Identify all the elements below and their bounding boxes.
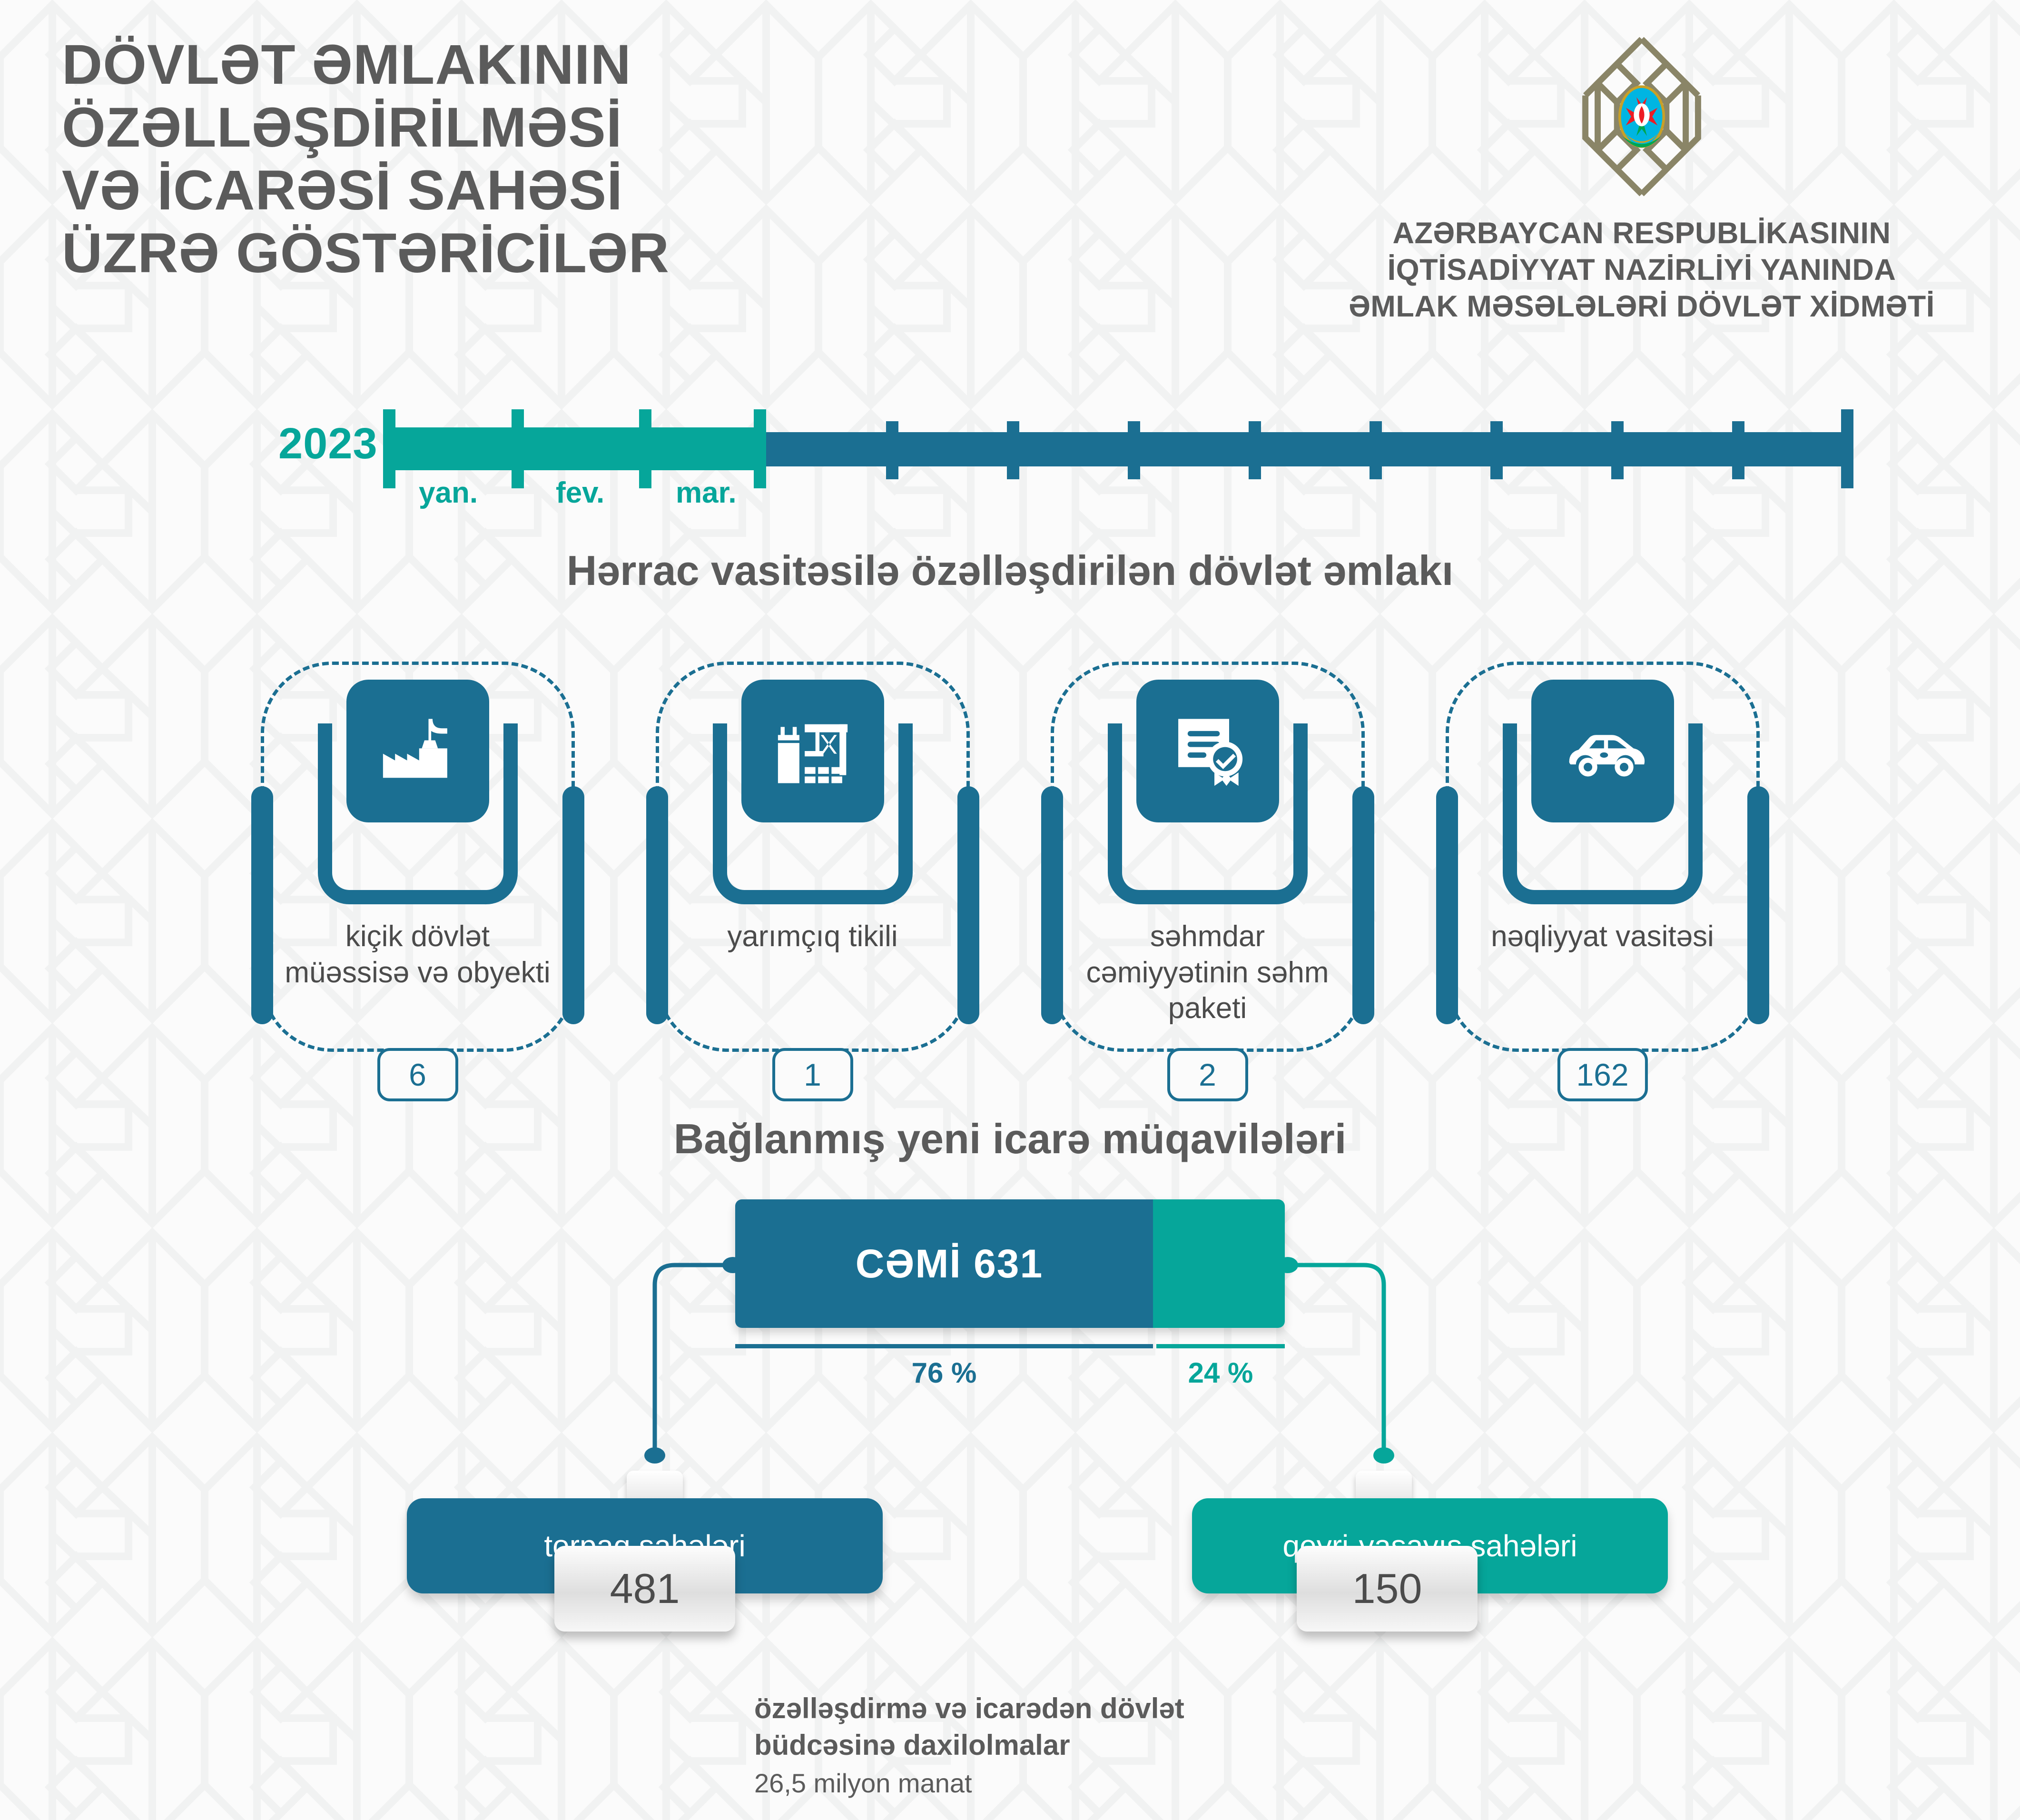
timeline-month-fev: fev. — [556, 476, 604, 510]
org-line-3: ƏMLAK MƏSƏLƏLƏRİ DÖVLƏT XİDMƏTİ — [1304, 288, 1980, 325]
footer-line-2: büdcəsinə daxilolmalar — [754, 1727, 1420, 1764]
card-value: 162 — [1557, 1048, 1647, 1101]
certificate-icon — [1165, 708, 1251, 794]
org-line-1: AZƏRBAYCAN RESPUBLİKASININ — [1304, 215, 1980, 252]
card-yarimciq-tikili[interactable]: yarımçıq tikili 1 — [646, 662, 979, 1080]
card-kicik-dovlet-muessise[interactable]: kiçik dövlət müəssisə və obyekti 6 — [251, 662, 584, 1080]
timeline-month-yan: yan. — [419, 476, 478, 510]
card-value: 6 — [377, 1048, 458, 1101]
section-title-lease: Bağlanmış yeni icarə müqavilələri — [0, 1115, 2020, 1163]
card-label: nəqliyyat vasitəsi — [1465, 919, 1741, 955]
card-pill-right — [1747, 786, 1769, 1024]
card-pill-right — [562, 786, 584, 1024]
percent-qeyri-yasayis: 24 % — [1156, 1356, 1285, 1389]
connector-dot-left-bottom — [644, 1447, 665, 1464]
lease-total-label: CƏMİ 631 — [735, 1199, 1163, 1328]
title-line-3: VƏ İCARƏSİ SAHƏSİ — [62, 159, 966, 222]
card-neqliyyat-vasitesi[interactable]: nəqliyyat vasitəsi 162 — [1436, 662, 1769, 1080]
card-pill-right — [957, 786, 979, 1024]
organization-branding: AZƏRBAYCAN RESPUBLİKASININ İQTİSADİYYAT … — [1304, 29, 1980, 325]
title-line-4: ÜZRƏ GÖSTƏRİCİLƏR — [62, 222, 966, 285]
card-label: səhmdar cəmiyyətinin səhm paketi — [1070, 919, 1346, 1027]
percent-rule-qeyri-yasayis — [1156, 1344, 1285, 1348]
title-line-2: ÖZƏLLƏŞDİRİLMƏSİ — [62, 96, 966, 159]
construction-crane-icon — [770, 708, 856, 794]
card-label: kiçik dövlət müəssisə və obyekti — [280, 919, 556, 990]
card-icon-box — [346, 680, 489, 822]
card-value: 1 — [772, 1048, 853, 1101]
card-pill-left — [1436, 786, 1458, 1024]
card-icon-box — [1136, 680, 1279, 822]
title-line-1: DÖVLƏT ƏMLAKININ — [62, 33, 966, 96]
connector-dot-right-bottom — [1373, 1447, 1394, 1464]
percent-torpaq: 76 % — [735, 1356, 1153, 1389]
lease-value-qeyri-yasayis: 150 — [1297, 1546, 1478, 1632]
factory-icon — [375, 708, 461, 794]
car-icon — [1560, 708, 1646, 794]
organization-name: AZƏRBAYCAN RESPUBLİKASININ İQTİSADİYYAT … — [1304, 215, 1980, 325]
card-icon-box — [1531, 680, 1674, 822]
card-pill-right — [1352, 786, 1374, 1024]
footer-amount: 26,5 milyon manat — [754, 1768, 1420, 1799]
section-title-privatization: Hərrac vasitəsilə özəlləşdirilən dövlət … — [0, 546, 2020, 595]
card-icon-box — [741, 680, 884, 822]
org-line-2: İQTİSADİYYAT NAZİRLİYİ YANINDA — [1304, 252, 1980, 288]
footer-line-1: özəlləşdirmə və icarədən dövlət — [754, 1691, 1420, 1727]
card-label: yarımçıq tikili — [675, 919, 951, 955]
card-pill-left — [1041, 786, 1063, 1024]
lease-value-torpaq: 481 — [554, 1546, 735, 1632]
card-pill-left — [646, 786, 668, 1024]
timeline-bar — [0, 405, 2020, 514]
bar-segment-qeyri-yasayis — [1153, 1199, 1285, 1328]
card-sehmdar-cemiyyeti[interactable]: səhmdar cəmiyyətinin səhm paketi 2 — [1041, 662, 1374, 1080]
card-pill-left — [251, 786, 273, 1024]
card-value: 2 — [1167, 1048, 1248, 1101]
azerbaijan-emblem-knot-logo — [1554, 29, 1730, 205]
privatization-cards: kiçik dövlət müəssisə və obyekti 6 yarım… — [0, 662, 2020, 1080]
footer-note: özəlləşdirmə və icarədən dövlət büdcəsin… — [754, 1691, 1420, 1799]
percent-rule-torpaq — [735, 1344, 1153, 1348]
timeline-month-mar: mar. — [676, 476, 737, 510]
page-title: DÖVLƏT ƏMLAKININ ÖZƏLLƏŞDİRİLMƏSİ VƏ İCA… — [62, 33, 966, 285]
